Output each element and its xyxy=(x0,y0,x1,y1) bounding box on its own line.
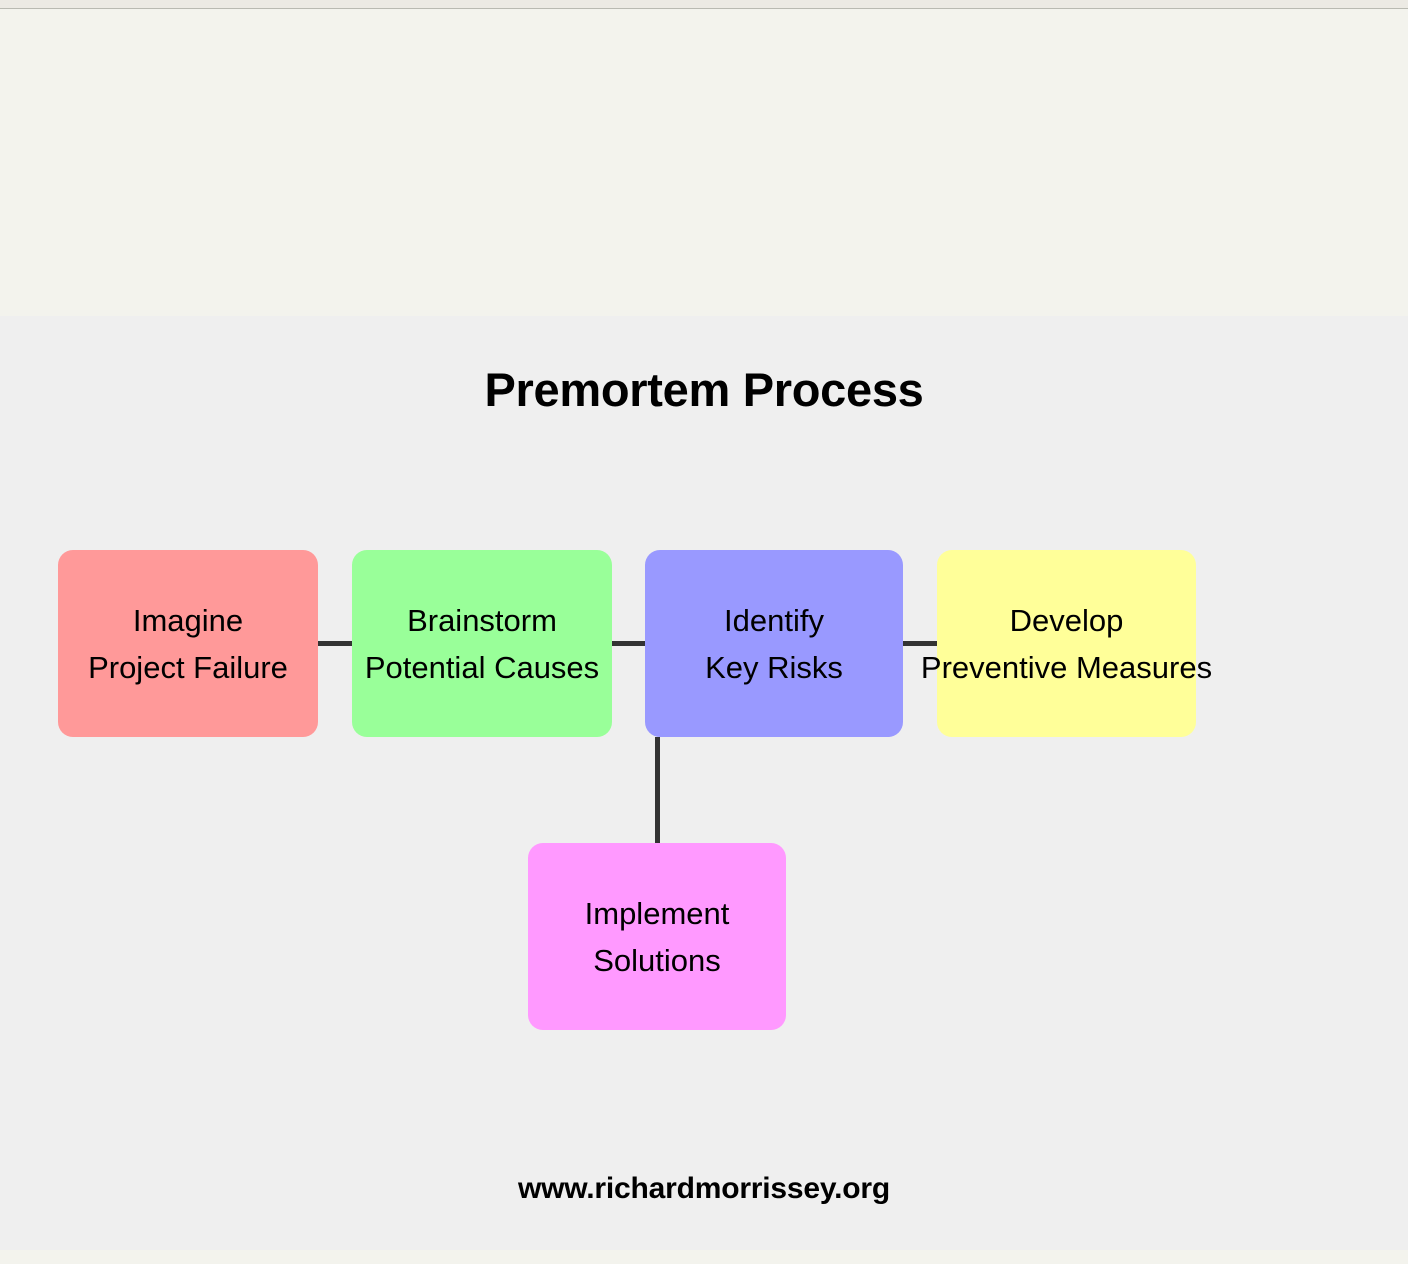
node-develop-label-line2: Preventive Measures xyxy=(921,644,1212,691)
node-implement-label-line1: Implement xyxy=(585,890,730,937)
node-identify-label-line1: Identify xyxy=(705,597,843,644)
node-brainstorm-potential-causes[interactable]: Brainstorm Potential Causes xyxy=(352,550,612,737)
page-top-rule xyxy=(0,0,1408,9)
node-brainstorm-label: Brainstorm Potential Causes xyxy=(365,597,599,691)
page-margin-top xyxy=(0,9,1408,316)
node-imagine-label-line1: Imagine xyxy=(88,597,288,644)
node-identify-key-risks[interactable]: Identify Key Risks xyxy=(645,550,903,737)
connector-imagine-brainstorm xyxy=(318,641,352,646)
node-implement-label-line2: Solutions xyxy=(585,937,730,984)
footer-url: www.richardmorrissey.org xyxy=(0,1172,1408,1206)
node-brainstorm-label-line1: Brainstorm xyxy=(365,597,599,644)
connector-brainstorm-identify xyxy=(612,641,645,646)
node-develop-label: Develop Preventive Measures xyxy=(921,597,1212,691)
node-identify-label: Identify Key Risks xyxy=(705,597,843,691)
node-implement-label: Implement Solutions xyxy=(585,890,730,984)
node-imagine-label-line2: Project Failure xyxy=(88,644,288,691)
node-develop-label-line1: Develop xyxy=(921,597,1212,644)
slide-background xyxy=(0,316,1408,1250)
node-imagine-label: Imagine Project Failure xyxy=(88,597,288,691)
node-implement-solutions[interactable]: Implement Solutions xyxy=(528,843,786,1030)
connector-identify-implement xyxy=(655,737,660,844)
slide-canvas: Premortem Process Imagine Project Failur… xyxy=(0,0,1408,1264)
node-imagine-project-failure[interactable]: Imagine Project Failure xyxy=(58,550,318,737)
page-title: Premortem Process xyxy=(0,360,1408,420)
node-identify-label-line2: Key Risks xyxy=(705,644,843,691)
page-margin-bottom xyxy=(0,1250,1408,1264)
node-develop-preventive-measures[interactable]: Develop Preventive Measures xyxy=(937,550,1196,737)
node-brainstorm-label-line2: Potential Causes xyxy=(365,644,599,691)
